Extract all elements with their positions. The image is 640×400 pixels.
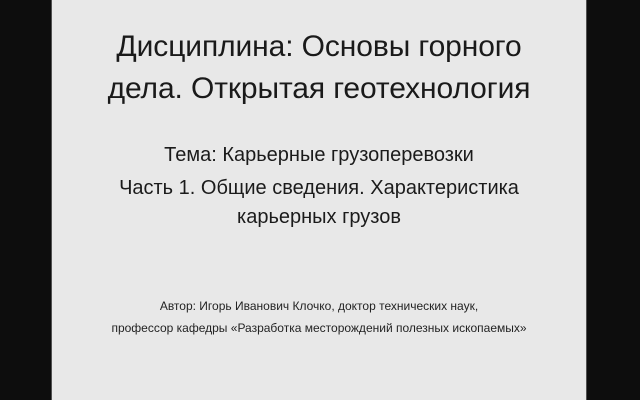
pillarbox-right bbox=[586, 0, 640, 400]
slide-part-line-1: Часть 1. Общие сведения. Характеристика bbox=[59, 174, 579, 203]
video-frame: Дисциплина: Основы горного дела. Открыта… bbox=[0, 0, 640, 400]
slide-topic: Тема: Карьерные грузоперевозки bbox=[64, 141, 574, 170]
slide-author: Автор: Игорь Иванович Клочко, доктор тех… bbox=[54, 295, 584, 339]
slide-part-line-2: карьерных грузов bbox=[59, 203, 579, 232]
slide-part: Часть 1. Общие сведения. Характеристика … bbox=[59, 174, 579, 232]
slide-author-line-2: профессор кафедры «Разработка месторожде… bbox=[54, 317, 584, 339]
slide-title: Дисциплина: Основы горного дела. Открыта… bbox=[64, 26, 574, 110]
presentation-slide: Дисциплина: Основы горного дела. Открыта… bbox=[52, 0, 586, 400]
pillarbox-left bbox=[0, 0, 52, 400]
slide-topic-line-1: Тема: Карьерные грузоперевозки bbox=[64, 141, 574, 170]
slide-author-line-1: Автор: Игорь Иванович Клочко, доктор тех… bbox=[54, 295, 584, 317]
slide-title-line-2: дела. Открытая геотехнология bbox=[64, 68, 574, 110]
slide-title-line-1: Дисциплина: Основы горного bbox=[64, 26, 574, 68]
slide-content: Дисциплина: Основы горного дела. Открыта… bbox=[52, 0, 586, 400]
